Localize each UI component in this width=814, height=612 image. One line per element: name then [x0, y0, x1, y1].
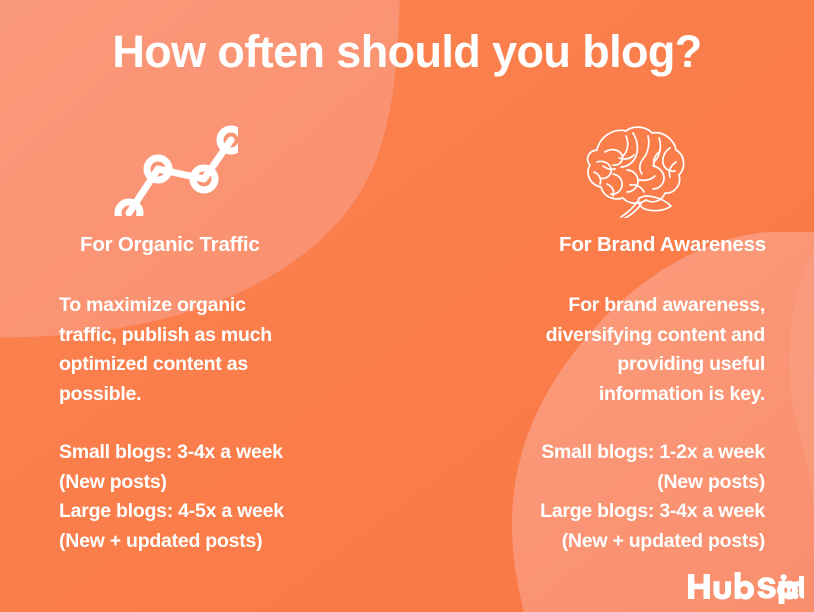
page-title: How often should you blog? [0, 24, 814, 80]
subheading-brand-awareness: For Brand Awareness [436, 232, 766, 258]
infographic-canvas: How often should you blog? For Organic T [0, 0, 814, 612]
paragraph-brand-awareness: For brand awareness, diversifying conten… [436, 291, 766, 409]
icon-container-left [48, 110, 378, 232]
icon-container-right [436, 110, 766, 232]
subheading-organic-traffic: For Organic Traffic [48, 232, 378, 258]
stats-brand-awareness: Small blogs: 1-2x a week (New posts) Lar… [436, 438, 766, 556]
column-brand-awareness: For Brand Awareness For brand awareness,… [436, 110, 766, 556]
brain-icon [567, 122, 689, 218]
paragraph-organic-traffic: To maximize organic traffic, publish as … [48, 291, 378, 409]
line-chart-icon [108, 116, 238, 216]
column-organic-traffic: For Organic Traffic To maximize organic … [48, 110, 378, 556]
stats-organic-traffic: Small blogs: 3-4x a week (New posts) Lar… [48, 438, 378, 556]
hubspot-logo [686, 568, 804, 604]
